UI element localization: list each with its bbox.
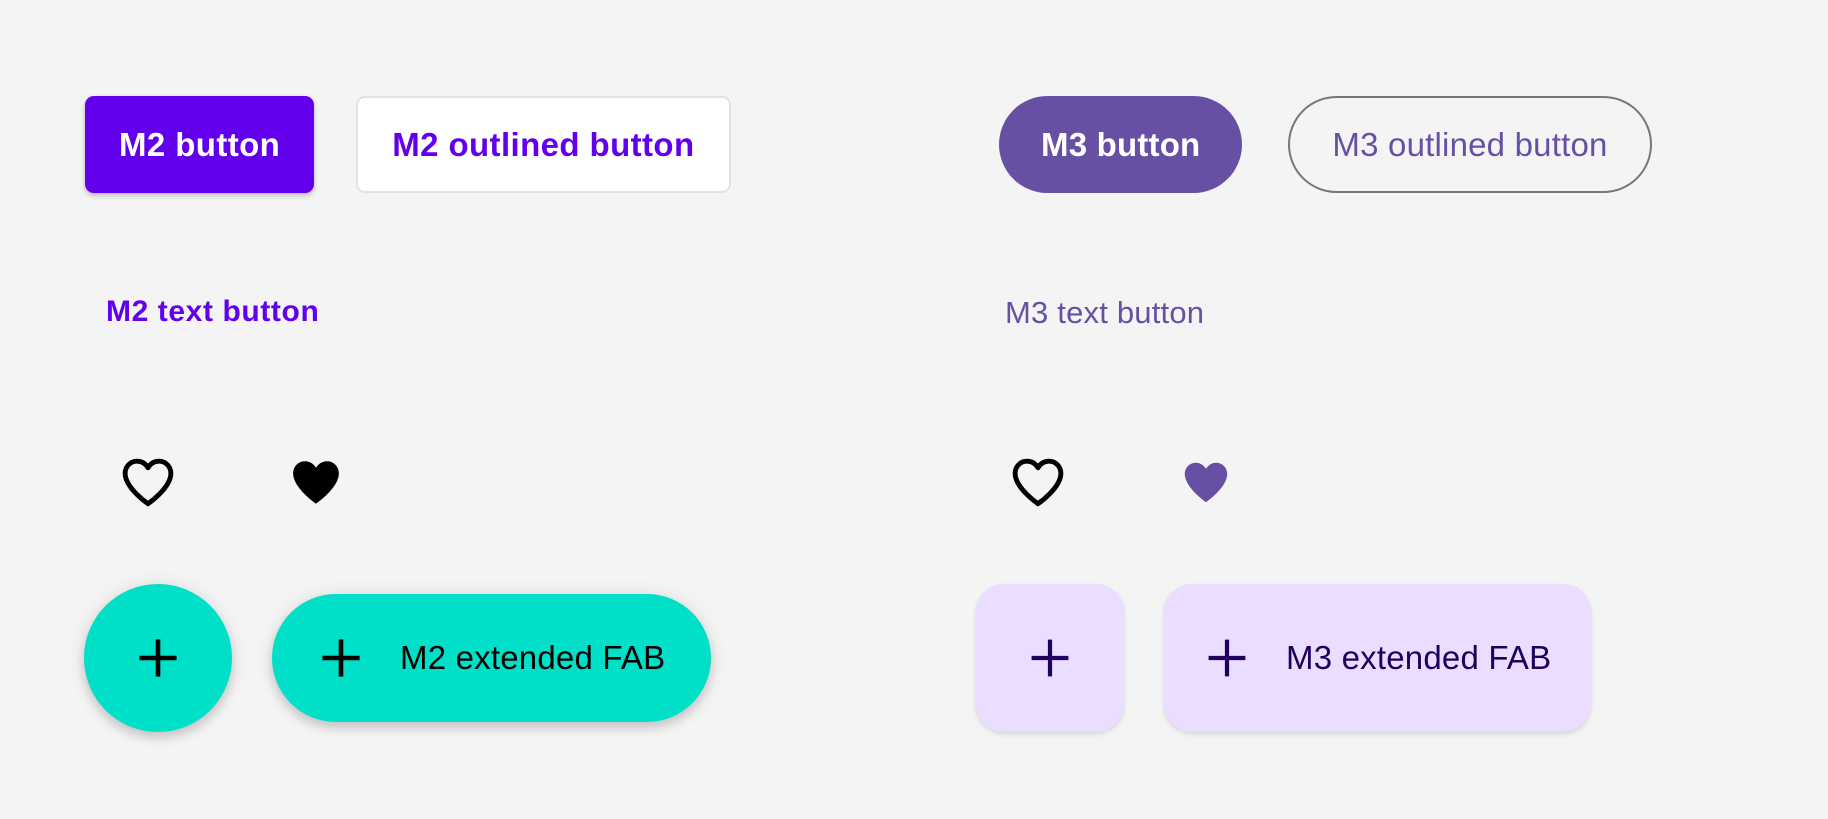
m3-icons-row [1008,452,1236,512]
heart-filled-icon [288,456,344,508]
plus-icon [1204,635,1250,681]
m3-extended-fab-label: M3 extended FAB [1286,639,1551,677]
m2-icons-row [118,452,346,512]
comparison-stage: M2 button M2 outlined button M2 text but… [0,0,1828,819]
m2-outlined-button[interactable]: M2 outlined button [356,96,730,193]
m2-buttons-row: M2 button M2 outlined button [85,96,731,193]
m2-fab[interactable] [84,584,232,732]
heart-filled-icon [1180,458,1232,506]
plus-icon [1027,635,1073,681]
m2-text-button[interactable]: M2 text button [106,295,319,329]
m3-extended-fab[interactable]: M3 extended FAB [1164,584,1591,732]
m3-filled-button[interactable]: M3 button [999,96,1242,193]
heart-outline-icon [1010,456,1066,508]
m2-column: M2 button M2 outlined button M2 text but… [0,0,914,819]
heart-outline-icon [120,456,176,508]
m3-heart-outline-button[interactable] [1008,452,1068,512]
m3-heart-filled-button[interactable] [1176,452,1236,512]
plus-icon [135,635,181,681]
m2-heart-filled-button[interactable] [286,452,346,512]
m3-fabs-row: M3 extended FAB [976,584,1591,732]
m2-extended-fab[interactable]: M2 extended FAB [272,594,711,722]
m2-filled-button[interactable]: M2 button [85,96,314,193]
m2-heart-outline-button[interactable] [118,452,178,512]
m3-outlined-button[interactable]: M3 outlined button [1288,96,1651,193]
m3-text-button[interactable]: M3 text button [1005,295,1204,331]
m2-fabs-row: M2 extended FAB [84,584,711,732]
m3-buttons-row: M3 button M3 outlined button [999,96,1652,193]
m2-extended-fab-label: M2 extended FAB [400,639,665,677]
m3-fab[interactable] [976,584,1124,732]
plus-icon [318,635,364,681]
